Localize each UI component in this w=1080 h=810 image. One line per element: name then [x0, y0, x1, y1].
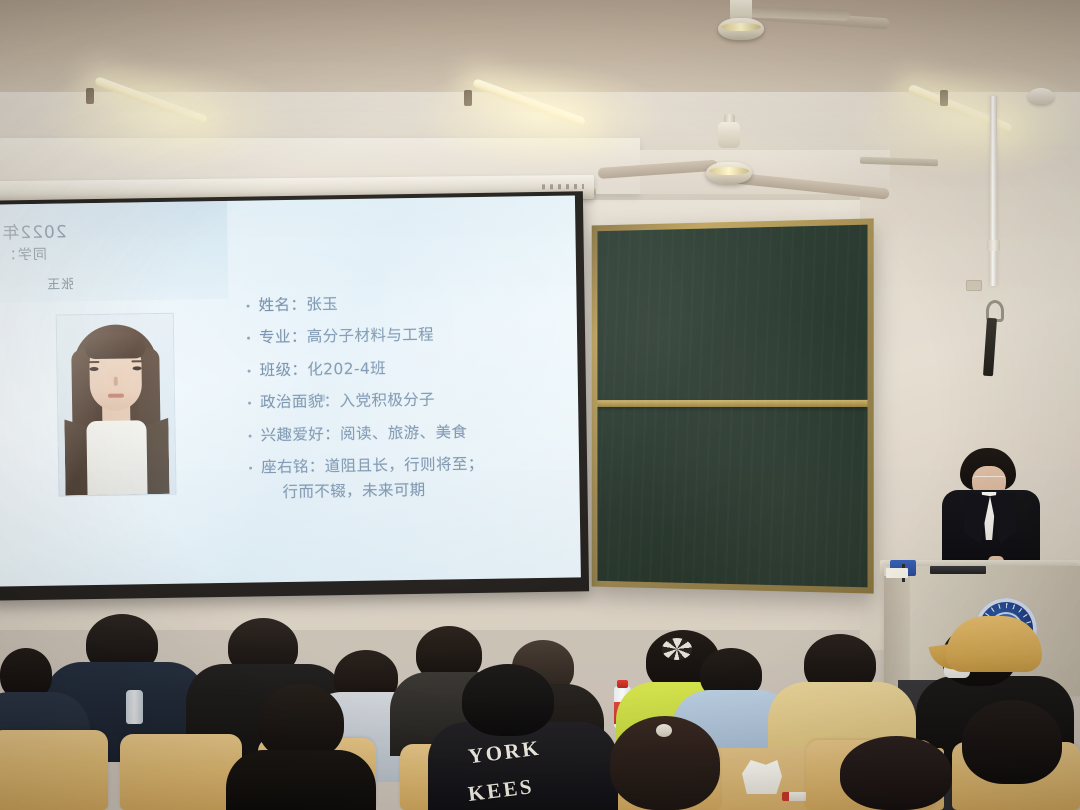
- attendee-head: [962, 700, 1062, 784]
- slide-bullet-name: 姓名：张玉: [246, 292, 546, 316]
- attendee-head: [258, 684, 344, 760]
- smoke-detector-icon: [1028, 88, 1054, 104]
- projection-screen-surface: 2022年 同学： 张玉: [0, 195, 581, 586]
- chair-back[interactable]: [120, 734, 242, 810]
- slide-bullet-major: 专业：高分子材料与工程: [247, 324, 547, 348]
- water-bottle-cap[interactable]: [617, 680, 628, 688]
- papers-on-podium[interactable]: [886, 568, 908, 578]
- blackboard-rail: [597, 400, 867, 407]
- slide-bullet-text: 政治面貌：入党积极分子: [260, 391, 435, 413]
- bullet-dot-icon: [248, 402, 251, 405]
- slide-bullet-motto-continued: 行而不辍，未来可期: [270, 479, 549, 503]
- classroom-photo: 2022年 同学： 张玉: [0, 0, 1080, 810]
- hair-tie: [656, 724, 672, 737]
- water-bottle[interactable]: [126, 690, 143, 724]
- slide-bullet-text: 座右铭：道阻且长，行则将至；: [261, 455, 484, 478]
- laptop-on-podium[interactable]: [930, 566, 986, 574]
- wall-plate: [966, 280, 982, 291]
- slide-bullet-text: 兴趣爱好：阅读、旅游、美食: [260, 423, 467, 446]
- slide-bullet-text: 行而不辍，未来可期: [282, 481, 425, 503]
- tube-light-right-mount: [940, 90, 948, 106]
- hanging-pole: [990, 96, 997, 286]
- slide-bullet-list: 姓名：张玉 专业：高分子材料与工程 班级：化202-4班 政治面貌：入党积极分子: [246, 292, 549, 516]
- attendee-head: [840, 736, 952, 810]
- slide-bullet-class: 班级：化202-4班: [247, 357, 547, 381]
- glasses-icon: [972, 476, 1006, 484]
- student-portrait-photo: [57, 314, 176, 496]
- slide-content: 姓名：张玉 专业：高分子材料与工程 班级：化202-4班 政治面貌：入党积极分子: [0, 195, 581, 586]
- pole-collar: [987, 240, 1000, 251]
- blackboard-surface: [597, 225, 867, 588]
- slide-bullet-text: 专业：高分子材料与工程: [259, 326, 434, 348]
- hair-scrunchie: [662, 638, 692, 660]
- bullet-dot-icon: [249, 434, 252, 437]
- blackboard: [592, 218, 874, 593]
- tube-light-center-mount: [464, 90, 472, 106]
- housing-vents: [542, 184, 584, 189]
- slide-bullet-political-status: 政治面貌：入党积极分子: [248, 389, 548, 413]
- bullet-dot-icon: [249, 466, 252, 469]
- bullet-dot-icon: [247, 337, 250, 340]
- slide-bullet-hobbies: 兴趣爱好：阅读、旅游、美食: [248, 421, 548, 445]
- bullet-dot-icon: [248, 369, 251, 372]
- tube-light-left-mount: [86, 88, 94, 104]
- projection-screen[interactable]: 2022年 同学： 张玉: [0, 191, 589, 600]
- yellow-cap-icon: [946, 616, 1042, 672]
- presenter: [930, 448, 1050, 572]
- tissue-pack[interactable]: [742, 760, 782, 794]
- attendee-body: [226, 750, 376, 810]
- slide-bullet-text: 班级：化202-4班: [259, 359, 386, 380]
- slide-bullet-text: 姓名：张玉: [258, 295, 338, 316]
- slide-bullet-motto: 座右铭：道阻且长，行则将至；: [249, 454, 549, 478]
- chair-back[interactable]: [0, 730, 108, 810]
- bullet-dot-icon: [247, 305, 250, 308]
- yankees-attendee-head: [462, 664, 554, 736]
- mouse-cursor-icon[interactable]: [320, 394, 325, 401]
